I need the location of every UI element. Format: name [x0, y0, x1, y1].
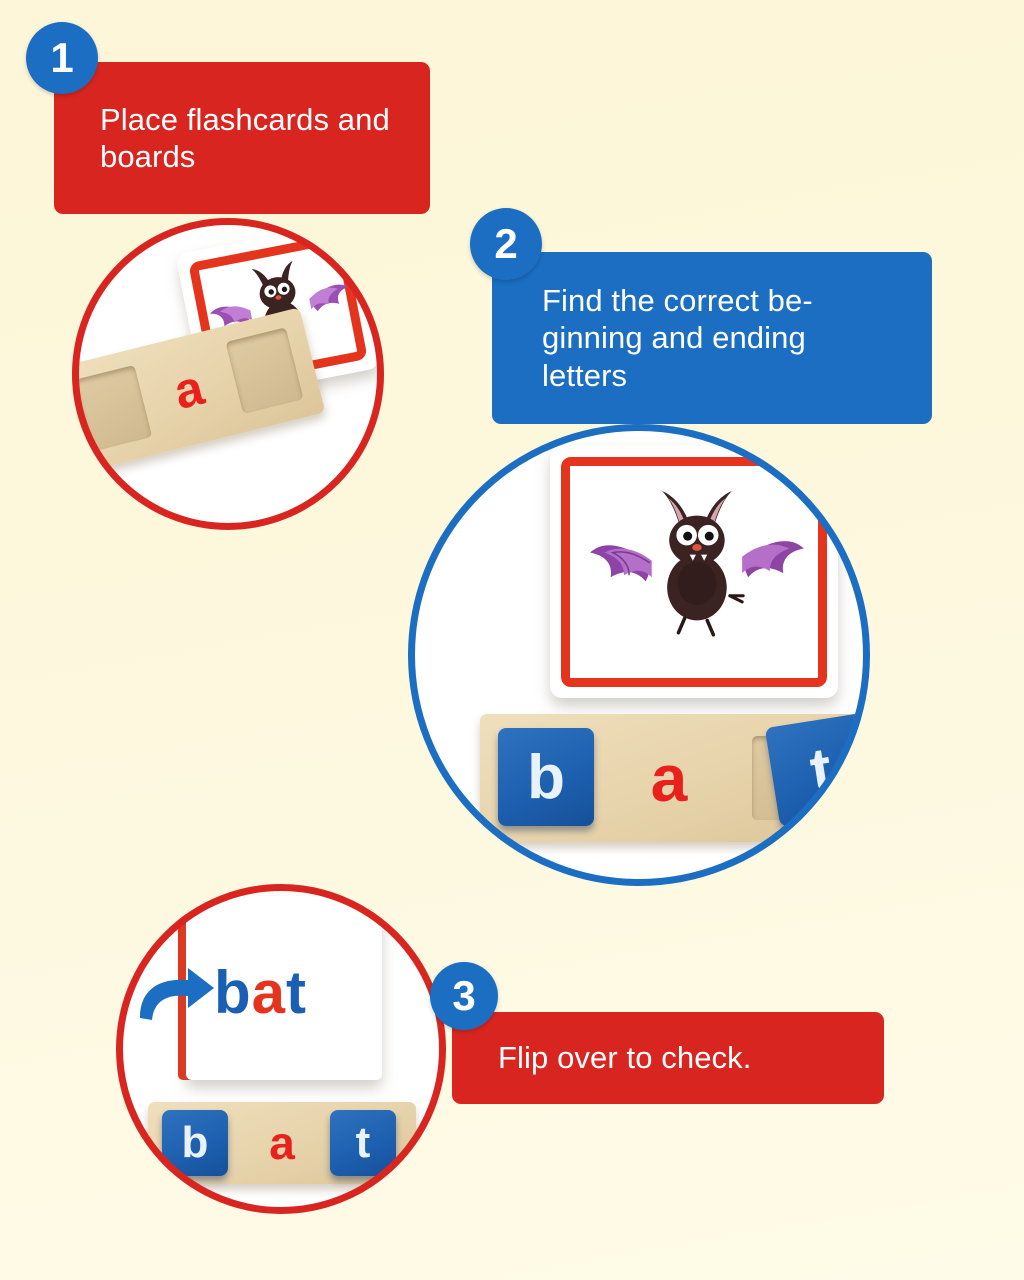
- tile-label: b: [527, 742, 565, 813]
- step-3-badge: 3: [430, 962, 498, 1030]
- step-1-callout: Place flashcards and boards: [54, 62, 430, 214]
- tile-label: b: [182, 1118, 209, 1168]
- letter-tile-b[interactable]: b: [162, 1110, 228, 1176]
- letter-tile-t[interactable]: t: [330, 1110, 396, 1176]
- card-letter-b: b: [214, 959, 252, 1026]
- step-2-board: b a t: [480, 714, 868, 842]
- step-2-callout: Find the correct be- ginning and ending …: [492, 252, 932, 424]
- card-letter-a: a: [252, 959, 286, 1026]
- bat-icon: [586, 480, 812, 656]
- tile-label: t: [805, 733, 837, 806]
- board-letter-a: a: [632, 740, 706, 816]
- step-2-text-line-1: Find the correct be-: [542, 282, 813, 319]
- step-2-text-line-3: letters: [542, 357, 813, 394]
- letter-tile-t[interactable]: t: [765, 713, 870, 827]
- card-letter-t: t: [286, 959, 307, 1026]
- step-1-text: Place flashcards and boards: [54, 101, 430, 175]
- step-3-photo: bat b a t: [116, 884, 446, 1214]
- step-3-board: b a t: [148, 1102, 416, 1184]
- step-2-text-line-2: ginning and ending: [542, 319, 813, 356]
- letter-tile-b[interactable]: b: [498, 728, 594, 826]
- tile-label: t: [356, 1118, 371, 1168]
- step-2-text: Find the correct be- ginning and ending …: [492, 282, 813, 394]
- card-word: bat: [214, 958, 307, 1027]
- step-2-number: 2: [494, 220, 517, 268]
- step-1-photo: a: [72, 218, 384, 530]
- step-1-board: a: [72, 307, 325, 472]
- step-3-text: Flip over to check.: [452, 1039, 751, 1076]
- step-2-photo: b a t: [408, 424, 870, 886]
- board-letter-a: a: [256, 1116, 308, 1170]
- step-3-callout: Flip over to check.: [452, 1012, 884, 1104]
- infographic-root: a Place flashcards and boards 1: [0, 0, 1024, 1280]
- step-2-flashcard: [550, 446, 838, 698]
- curved-right-arrow-icon: [134, 962, 218, 1030]
- step-1-number: 1: [50, 34, 73, 82]
- step-3-number: 3: [452, 972, 475, 1020]
- step-1-badge: 1: [26, 22, 98, 94]
- step-2-badge: 2: [470, 208, 542, 280]
